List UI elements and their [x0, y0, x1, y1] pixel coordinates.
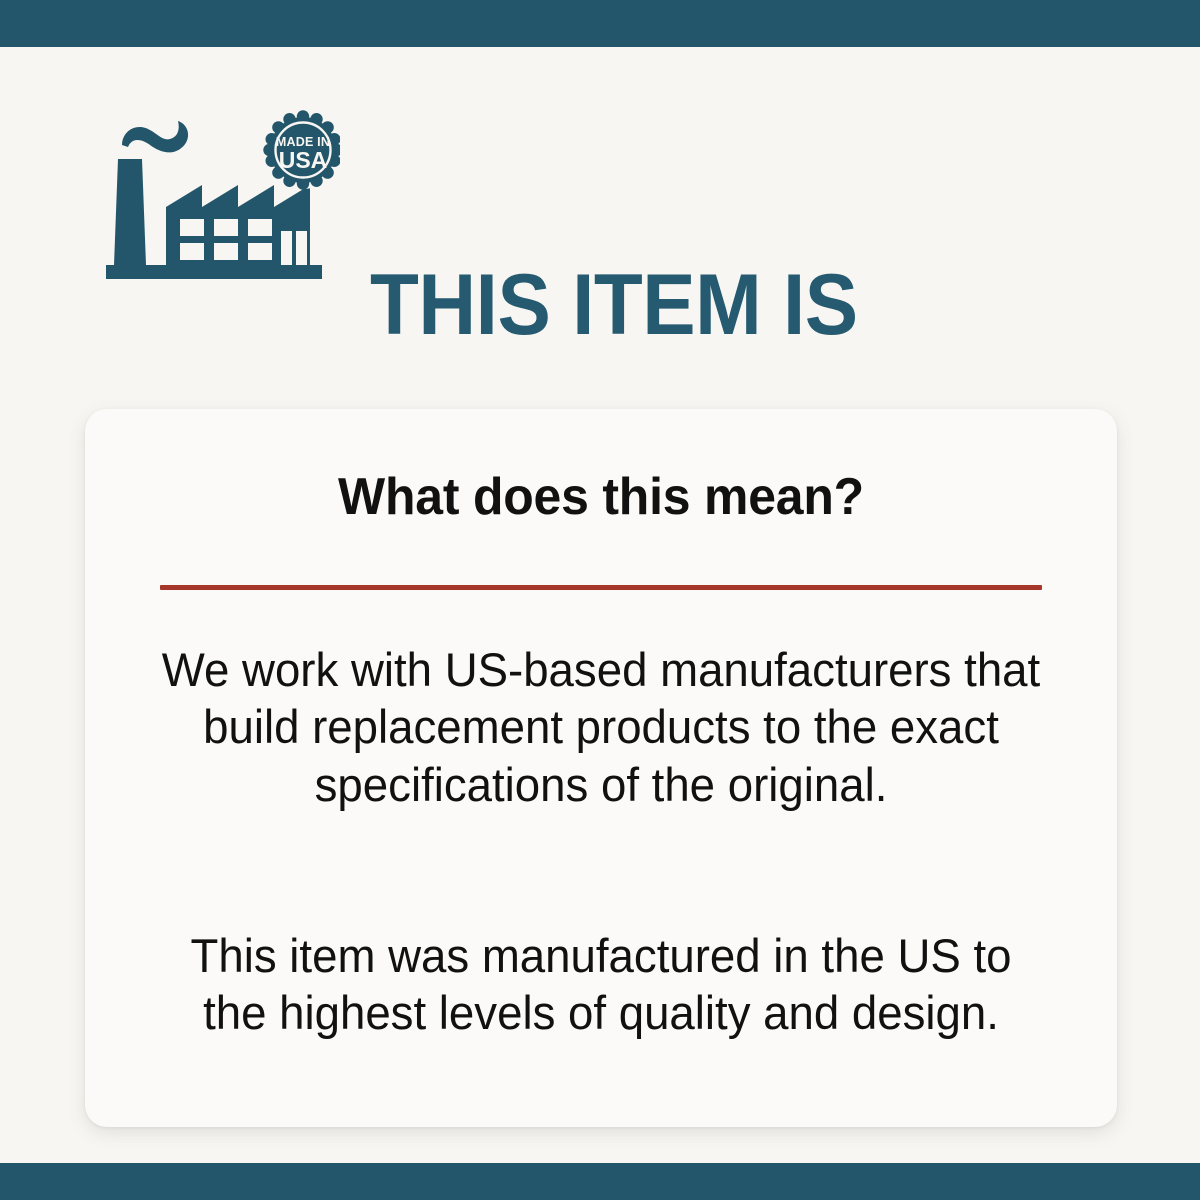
- card-divider: [160, 585, 1042, 590]
- page-canvas: MADE IN USA THIS ITEM IS MADE IN THE USA…: [0, 47, 1200, 1163]
- headline-line-1: THIS ITEM IS: [370, 263, 1074, 347]
- card-paragraph-2: This item was manufactured in the US to …: [159, 927, 1044, 1042]
- factory-made-in-usa-icon: MADE IN USA: [100, 107, 340, 287]
- badge-line-2-text: USA: [279, 147, 328, 173]
- card-paragraph-1: We work with US-based manufacturers that…: [159, 641, 1044, 813]
- top-accent-bar: [0, 0, 1200, 47]
- page-header: MADE IN USA THIS ITEM IS MADE IN THE USA: [0, 102, 1200, 342]
- info-card: What does this mean? We work with US-bas…: [85, 409, 1117, 1127]
- card-title: What does this mean?: [106, 467, 1097, 527]
- bottom-accent-bar: [0, 1163, 1200, 1200]
